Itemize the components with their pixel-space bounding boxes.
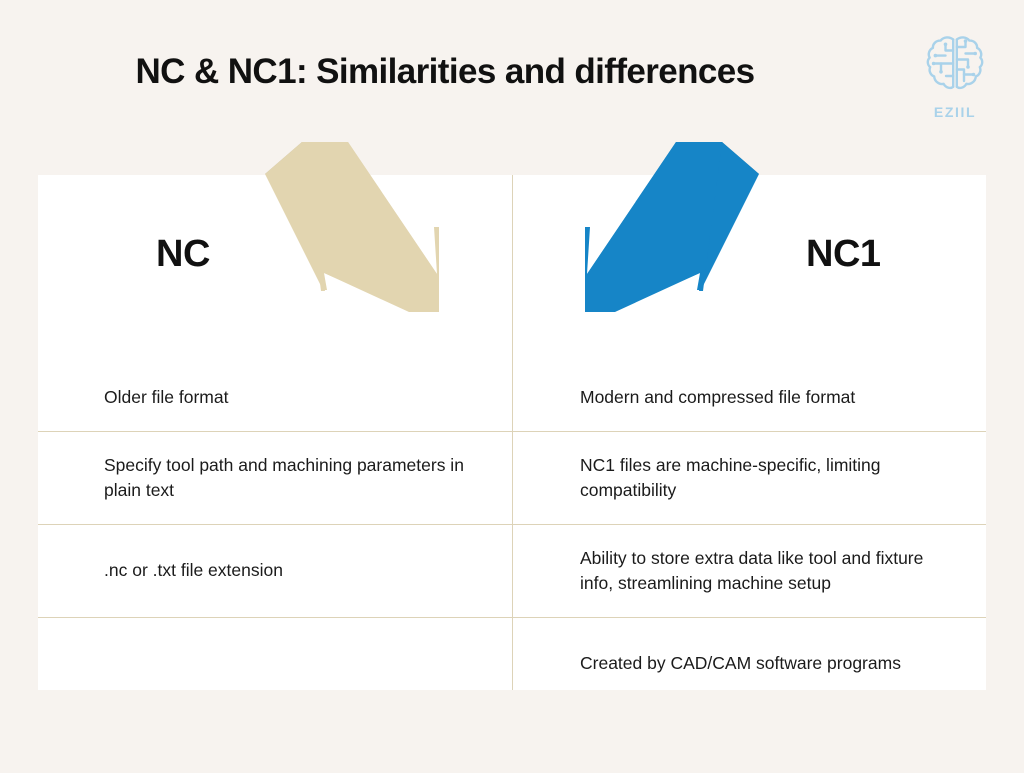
cell-nc1: Created by CAD/CAM software programs <box>512 618 986 710</box>
column-header-nc: NC <box>156 233 210 276</box>
comparison-table: NC NC1 Older file format Modern and comp… <box>38 175 986 690</box>
column-header-nc1: NC1 <box>806 233 881 276</box>
table-row: .nc or .txt file extension Ability to st… <box>38 524 986 617</box>
table-row: Older file format Modern and compressed … <box>38 365 986 431</box>
table-row: Created by CAD/CAM software programs <box>38 617 986 710</box>
brand-logo: EZIIL <box>915 33 995 128</box>
cell-nc1: Ability to store extra data like tool an… <box>512 525 986 617</box>
table-header-row: NC NC1 <box>38 175 986 365</box>
cell-nc1: NC1 files are machine-specific, limiting… <box>512 432 986 524</box>
brain-circuit-icon <box>915 33 995 102</box>
logo-wordmark: EZIIL <box>915 104 995 120</box>
cell-nc <box>38 618 512 710</box>
table-body: Older file format Modern and compressed … <box>38 365 986 710</box>
table-row: Specify tool path and machining paramete… <box>38 431 986 524</box>
page-title: NC & NC1: Similarities and differences <box>0 52 890 92</box>
cell-nc: Specify tool path and machining paramete… <box>38 432 512 524</box>
cell-nc1: Modern and compressed file format <box>512 365 986 431</box>
cell-nc: Older file format <box>38 365 512 431</box>
cell-nc: .nc or .txt file extension <box>38 525 512 617</box>
